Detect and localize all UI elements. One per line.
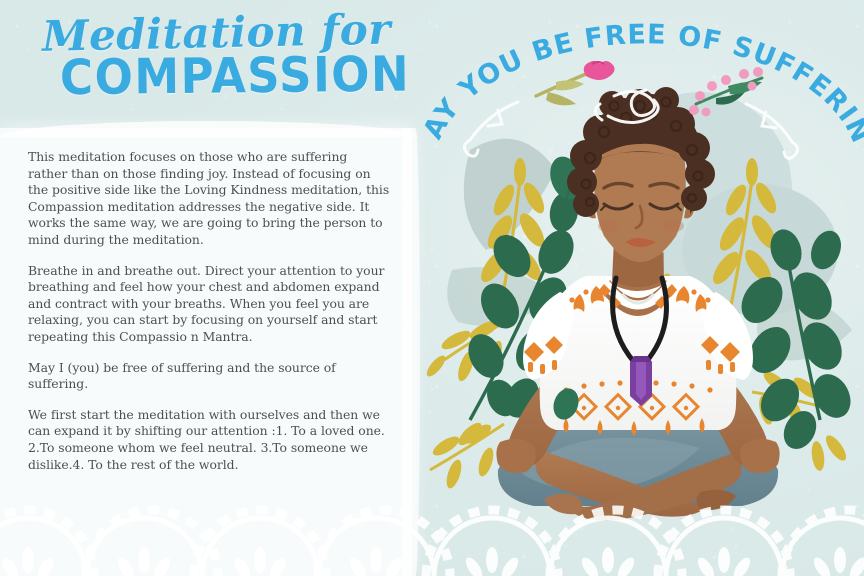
paragraph-intro: This meditation focuses on those who are… <box>28 149 390 249</box>
description-panel: This meditation focuses on those who are… <box>0 128 412 576</box>
paragraph-mantra: May I (you) be free of suffering and the… <box>28 360 390 393</box>
page-title: Meditation for COMPASSION <box>42 12 412 102</box>
amethyst-pendant <box>630 356 652 406</box>
meditation-page: MAY YOU BE FREE OF SUFFERING Meditation … <box>0 0 864 576</box>
paragraph-breathing: Breathe in and breathe out. Direct your … <box>28 263 390 346</box>
paragraph-expansion: We first start the meditation with ourse… <box>28 407 390 473</box>
description-body: This meditation focuses on those who are… <box>0 128 412 473</box>
title-line-2: COMPASSION <box>60 48 413 103</box>
